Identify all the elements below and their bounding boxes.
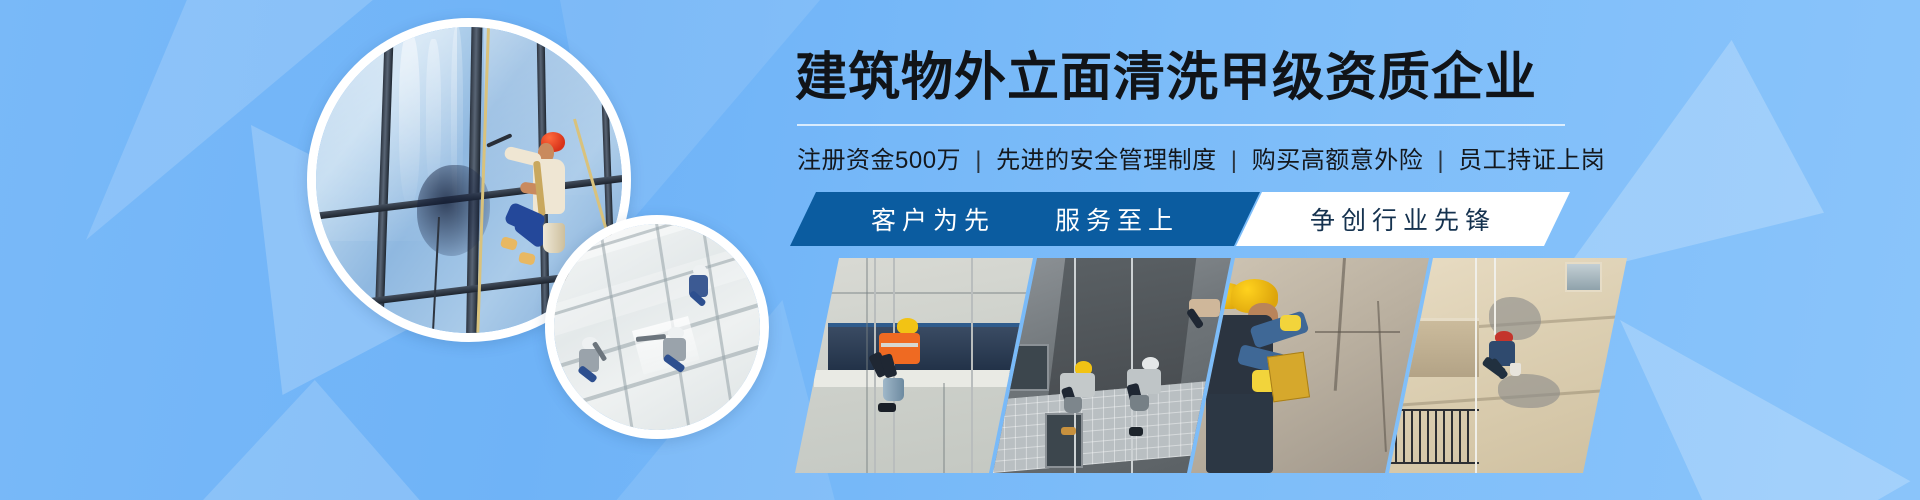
slogan-2: 服务至上 [1055,207,1179,235]
feature-1: 注册资金500万 [797,147,961,174]
feature-2: 先进的安全管理制度 [996,147,1217,174]
work-rope-3 [971,258,973,473]
wall-repair-closeup-scene [1191,258,1429,473]
feature-4: 员工持证上岗 [1458,147,1605,174]
orange-vest-worker-scene [795,258,1033,473]
worker-rappel-2 [1117,357,1179,447]
facade-worker-3 [682,265,723,327]
worker-boot-2 [518,251,536,265]
trowel-icon [1267,352,1310,402]
background-triangle-4 [1560,40,1890,400]
white-facade-scene [554,224,760,430]
worker-boot [1129,427,1143,436]
worker-rappel-1 [1050,361,1112,447]
wall-crack-2 [1377,301,1387,451]
tool-bag [1130,395,1149,411]
feature-3: 购买高额意外险 [1252,147,1424,174]
slogan-ribbon-blue: 客户为先 服务至上 [790,192,1260,246]
facade-worker-2 [653,327,702,397]
slogan-blue-text: 客户为先 服务至上 [871,201,1179,237]
worker-orange-vest [862,318,943,421]
rappel-line-1 [1494,258,1496,335]
worker-boot [878,403,896,412]
tool-bag [1064,397,1083,412]
slogan-3: 争创行业先锋 [1310,201,1496,237]
feature-separator: | [1231,147,1238,174]
slogan-1: 客户为先 [871,207,995,235]
rappel-line-2 [1475,258,1477,473]
grey-wall-workers-scene [993,258,1231,473]
subtitle-features: 注册资金500万 | 先进的安全管理制度 | 购买高额意外险 | 员工持证上岗 [797,140,1605,175]
collage-photo-2 [993,258,1231,473]
photo-collage-strip [795,258,1570,473]
collage-photo-3 [1191,258,1429,473]
vest-stripe [881,343,918,347]
wall-seam-2 [943,383,945,473]
circle-photo-small [545,215,769,439]
slogan-ribbon-white: 争创行业先锋 [1236,192,1570,246]
facade-worker-1 [570,337,615,407]
page-title: 建筑物外立面清洗甲级资质企业 [795,52,1537,104]
feature-separator: | [1437,147,1444,174]
paint-bucket [883,378,904,401]
helmet-icon [897,318,918,333]
slogan-ribbon: 客户为先 服务至上 争创行业先锋 [790,192,1570,246]
background-triangle-5 [1620,320,1920,500]
work-pail [1510,363,1522,376]
collage-photo-1 [795,258,1033,473]
promo-banner: 建筑物外立面清洗甲级资质企业 注册资金500万 | 先进的安全管理制度 | 购买… [0,0,1920,500]
wet-streak-1 [399,33,420,204]
glove-upper [1280,315,1301,331]
worker-rappelling [1479,331,1531,404]
background-triangle-3 [110,380,430,500]
worker-pants [1206,394,1273,473]
worker-boot [1061,427,1076,436]
headline-divider [797,124,1565,126]
wall-seam-3 [795,292,1033,294]
worker-boot-1 [500,236,518,251]
feature-separator: | [975,147,982,174]
